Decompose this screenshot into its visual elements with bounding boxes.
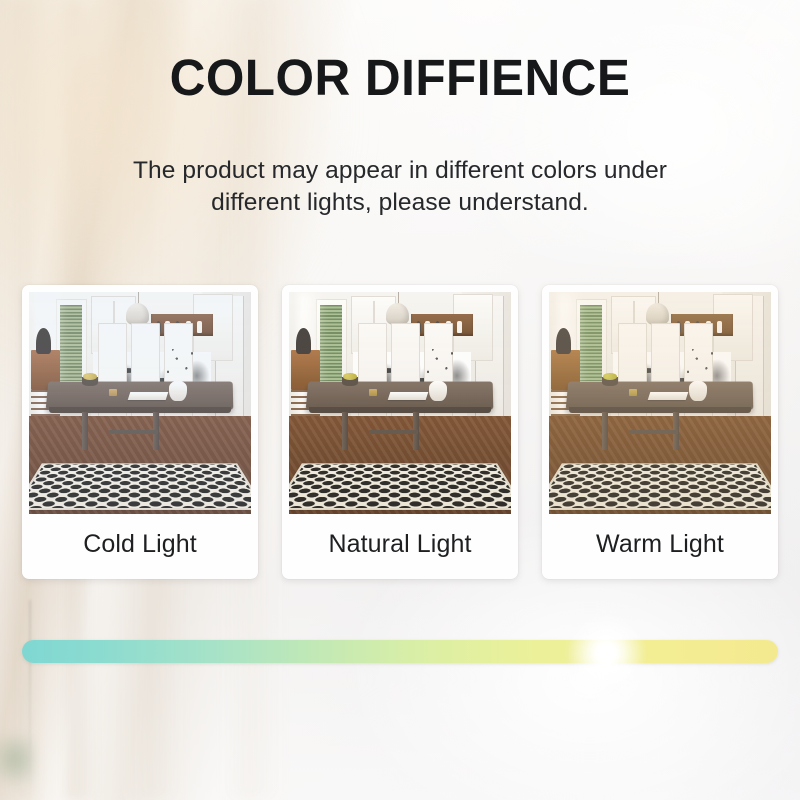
card-cold-light[interactable]: Cold Light (22, 285, 258, 579)
card-label-natural-light: Natural Light (289, 514, 511, 579)
dining-room-scene (549, 292, 771, 514)
comparison-cards: Cold Light (22, 285, 778, 579)
photo-warm-light (549, 292, 771, 514)
card-label-warm-light: Warm Light (549, 514, 771, 579)
card-label-cold-light: Cold Light (29, 514, 251, 579)
background-foliage (0, 735, 34, 789)
card-warm-light[interactable]: Warm Light (542, 285, 778, 579)
infographic-page: COLOR DIFFIENCE The product may appear i… (0, 0, 800, 800)
page-title: COLOR DIFFIENCE (12, 52, 788, 103)
dining-room-scene (29, 292, 251, 514)
subtitle-line-1: The product may appear in different colo… (0, 155, 800, 187)
subtitle-line-2: different lights, please understand. (0, 187, 800, 219)
page-subtitle: The product may appear in different colo… (0, 155, 800, 220)
color-temperature-gradient-bar (22, 640, 778, 663)
dining-room-scene (289, 292, 511, 514)
photo-cold-light (29, 292, 251, 514)
card-natural-light[interactable]: Natural Light (282, 285, 518, 579)
header: COLOR DIFFIENCE The product may appear i… (0, 52, 800, 220)
photo-natural-light (289, 292, 511, 514)
